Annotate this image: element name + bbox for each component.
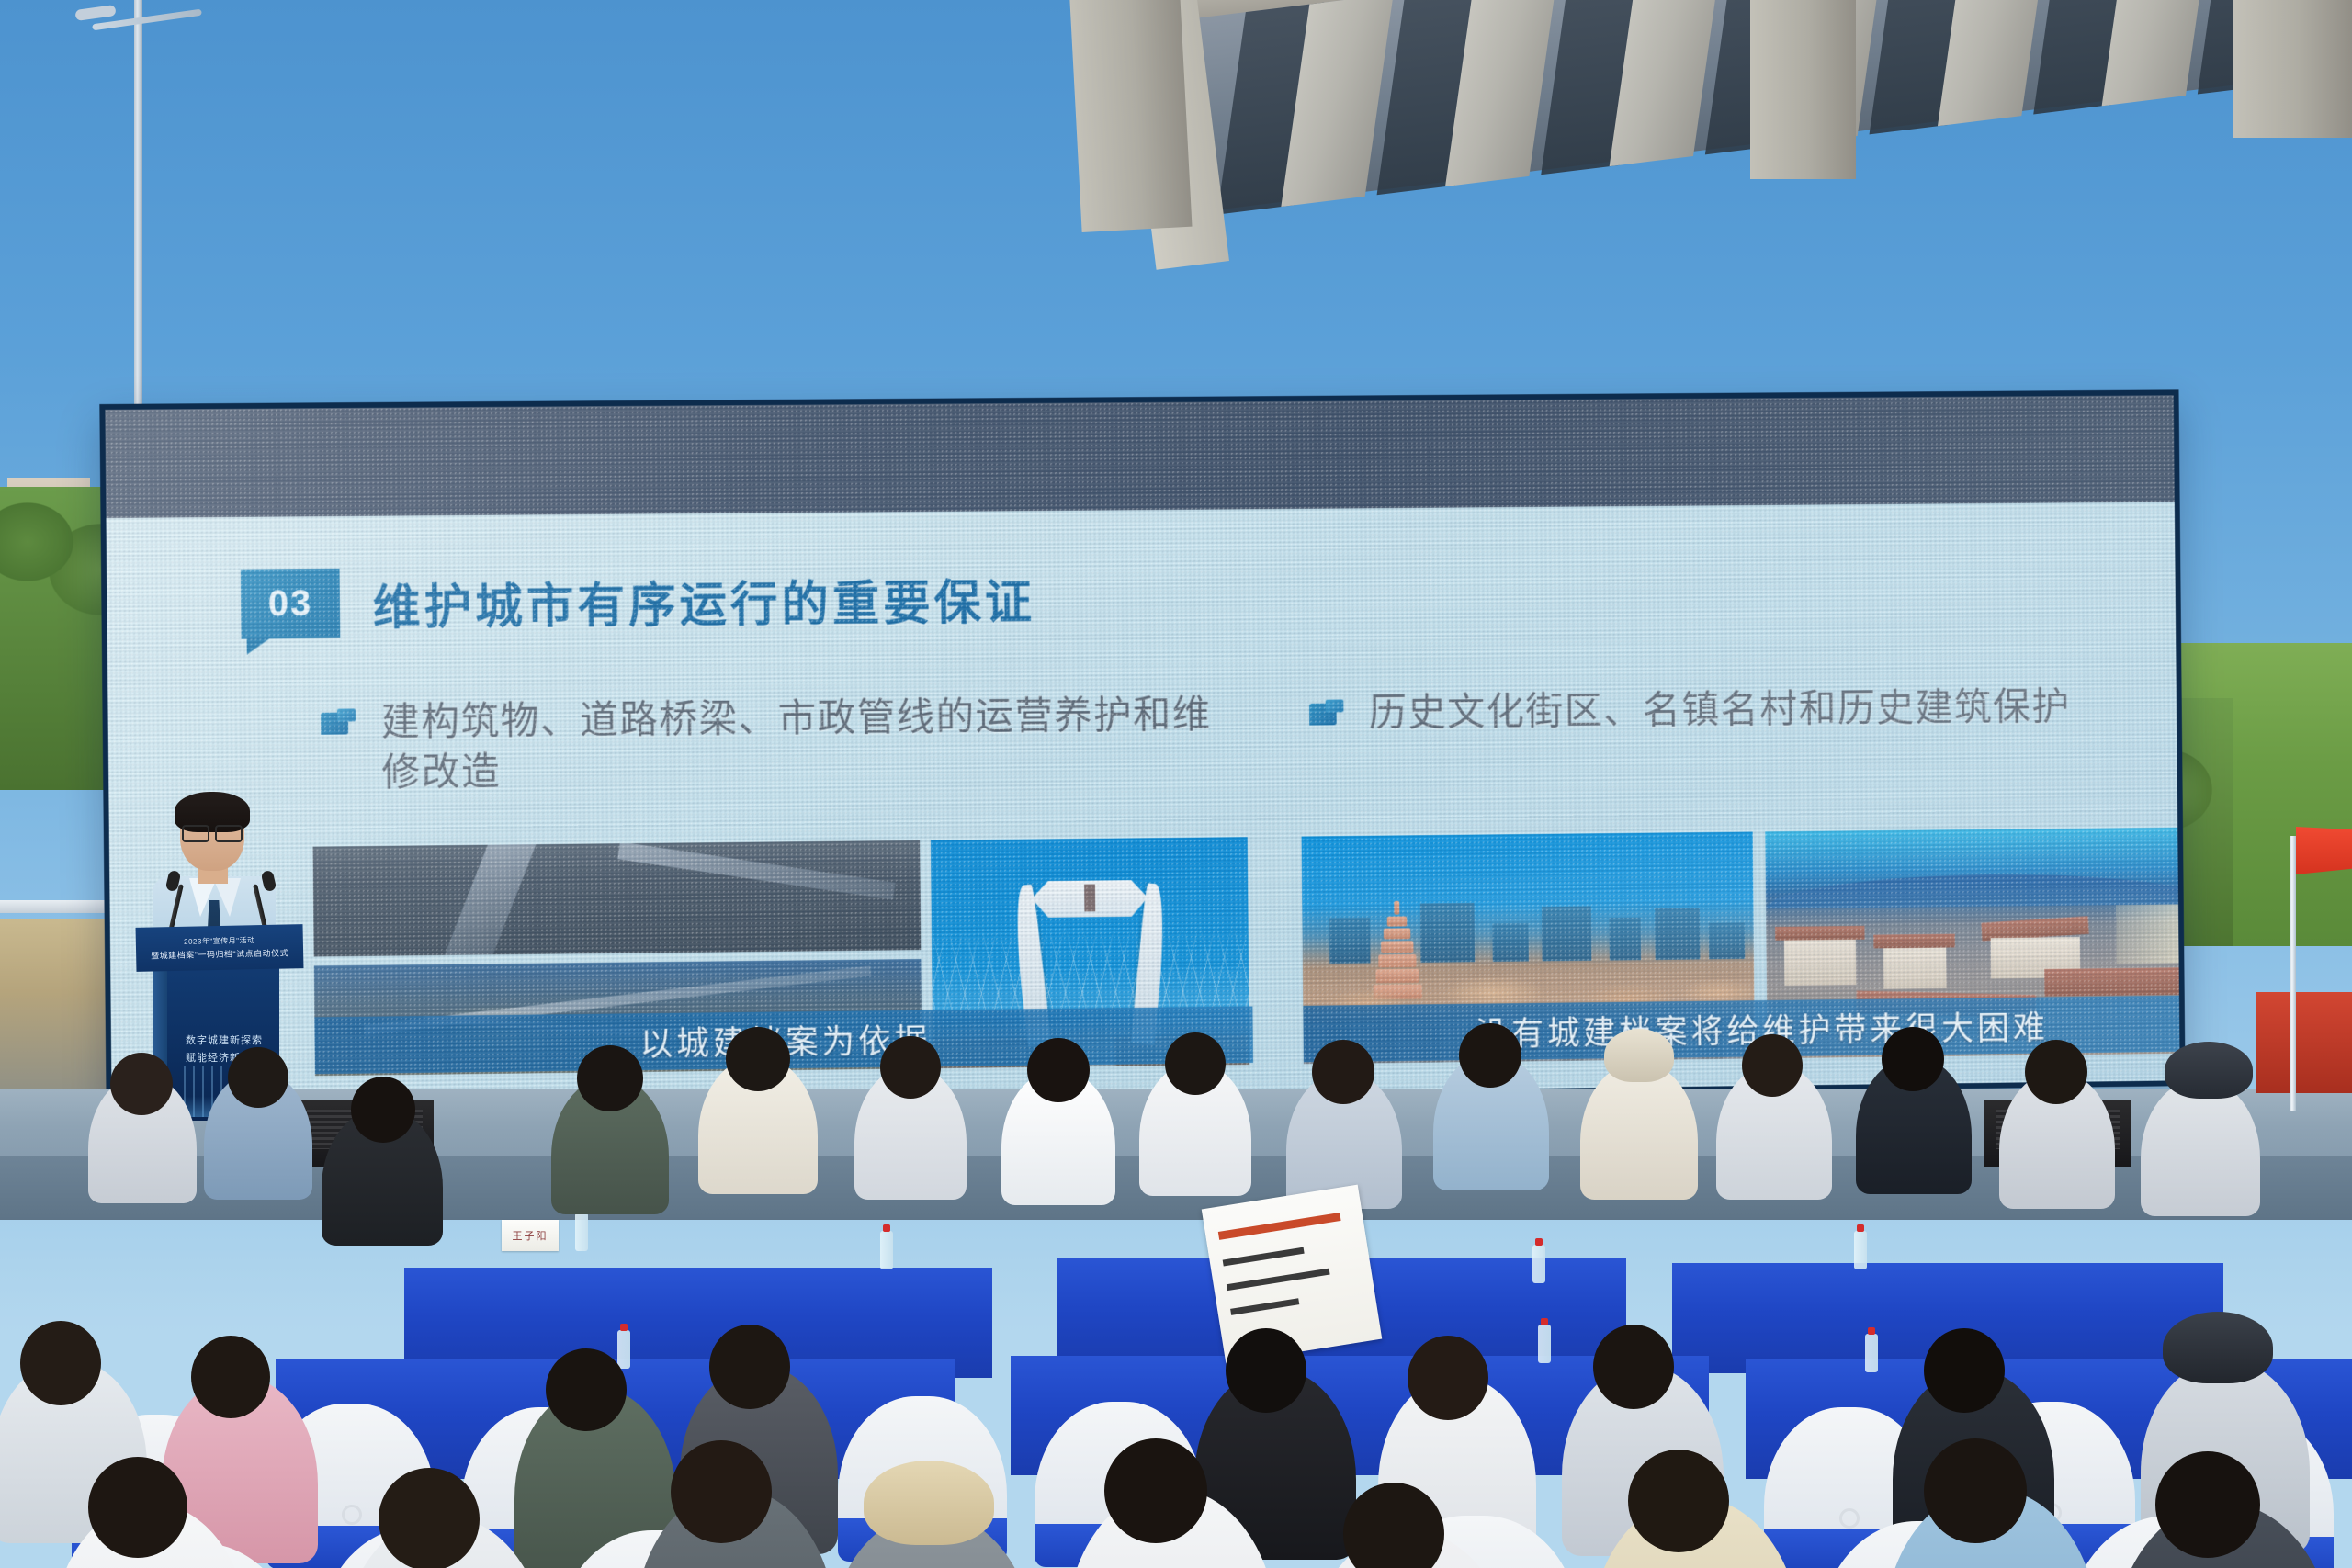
audience-head — [671, 1440, 772, 1543]
audience-person — [2141, 1078, 2260, 1216]
water-bottle — [880, 1231, 893, 1269]
audience-head — [726, 1027, 790, 1091]
audience-head — [1882, 1027, 1944, 1091]
name-card: 王子阳 — [502, 1220, 559, 1251]
photo-aerial-interchange-dusk — [313, 840, 922, 957]
audience-head — [1459, 1023, 1521, 1088]
audience-head — [2155, 1451, 2260, 1558]
water-bottle — [1865, 1334, 1878, 1372]
slide-header-bar — [105, 395, 2174, 518]
viaduct-pier-right — [2233, 0, 2352, 138]
slide-column-right: 历史文化街区、名镇名村和历史建筑保护 — [1309, 681, 2180, 739]
podium-slogan-line1: 数字城建新探索 — [175, 1032, 274, 1047]
audience-head — [1312, 1040, 1374, 1104]
folder-icon — [1309, 699, 1346, 730]
viaduct-pier-mid — [1750, 0, 1856, 179]
audience-head — [1742, 1034, 1803, 1097]
section-number-text: 03 — [268, 583, 313, 625]
water-bottle — [1854, 1231, 1867, 1269]
audience-head — [1628, 1450, 1729, 1552]
audience-head — [577, 1045, 643, 1111]
viaduct-pier-left — [1068, 0, 1192, 232]
water-bottle — [1538, 1325, 1551, 1363]
audience-head — [2025, 1040, 2087, 1104]
slide-canvas: 一、充分认识建设工程档案价值 03 维护城市有序运行的重要保证 建构筑物、道路桥… — [105, 395, 2179, 1106]
audience-head — [191, 1336, 270, 1418]
podium-sign-line1: 2023年"宣传月"活动 — [184, 935, 255, 947]
audience-head — [880, 1036, 941, 1099]
audience-head — [709, 1325, 790, 1409]
chair-sash-ring — [1839, 1508, 1860, 1529]
flag-pole — [2290, 836, 2296, 1111]
audience-head — [546, 1348, 627, 1431]
sun-hat — [2163, 1312, 2273, 1383]
audience-head — [1924, 1328, 2005, 1413]
chair-sash-ring — [342, 1505, 362, 1525]
audience-head — [1165, 1032, 1226, 1095]
bullet-row-left: 建构筑物、道路桥梁、市政管线的运营养护和维修改造 — [321, 690, 1249, 798]
slide-column-left: 建构筑物、道路桥梁、市政管线的运营养护和维修改造 — [321, 690, 1249, 798]
held-poster — [1202, 1185, 1382, 1364]
audience-head — [20, 1321, 101, 1405]
podium-sign-line2: 暨城建档案"一码归档"试点启动仪式 — [151, 946, 288, 961]
audience-head — [88, 1457, 187, 1558]
sun-hat — [864, 1461, 994, 1545]
water-bottle — [575, 1213, 588, 1251]
audience-head — [1924, 1438, 2027, 1543]
glasses-icon — [182, 825, 243, 839]
audience-area: 王子阳 — [0, 1084, 2352, 1568]
podium-sign: 2023年"宣传月"活动 暨城建档案"一码归档"试点启动仪式 — [136, 924, 304, 972]
water-bottle — [1532, 1245, 1545, 1283]
audience-head — [1593, 1325, 1674, 1409]
audience-head — [351, 1077, 415, 1143]
audience-head — [1027, 1038, 1090, 1102]
sun-hat — [2165, 1042, 2253, 1099]
audience-head — [1104, 1438, 1207, 1543]
audience-head — [110, 1053, 173, 1115]
event-photo-scene: 一、充分认识建设工程档案价值 03 维护城市有序运行的重要保证 建构筑物、道路桥… — [0, 0, 2352, 1568]
bullet-text-left: 建构筑物、道路桥梁、市政管线的运营养护和维修改造 — [381, 690, 1249, 798]
red-flag — [2296, 827, 2352, 874]
bullet-row-right: 历史文化街区、名镇名村和历史建筑保护 — [1309, 681, 2180, 739]
slide-subtitle: 维护城市有序运行的重要保证 — [372, 564, 1035, 638]
audience-head — [379, 1468, 480, 1568]
audience-head — [228, 1047, 288, 1108]
water-bottle — [617, 1330, 630, 1369]
sun-hat — [1604, 1029, 1674, 1082]
audience-head — [1408, 1336, 1488, 1420]
led-display-screen: 一、充分认识建设工程档案价值 03 维护城市有序运行的重要保证 建构筑物、道路桥… — [99, 389, 2185, 1111]
audience-head — [1226, 1328, 1306, 1413]
red-canopy-tent — [2256, 992, 2352, 1093]
bullet-text-right: 历史文化街区、名镇名村和历史建筑保护 — [1369, 682, 2071, 738]
folder-icon — [321, 708, 357, 739]
section-number-badge: 03 — [241, 569, 340, 639]
